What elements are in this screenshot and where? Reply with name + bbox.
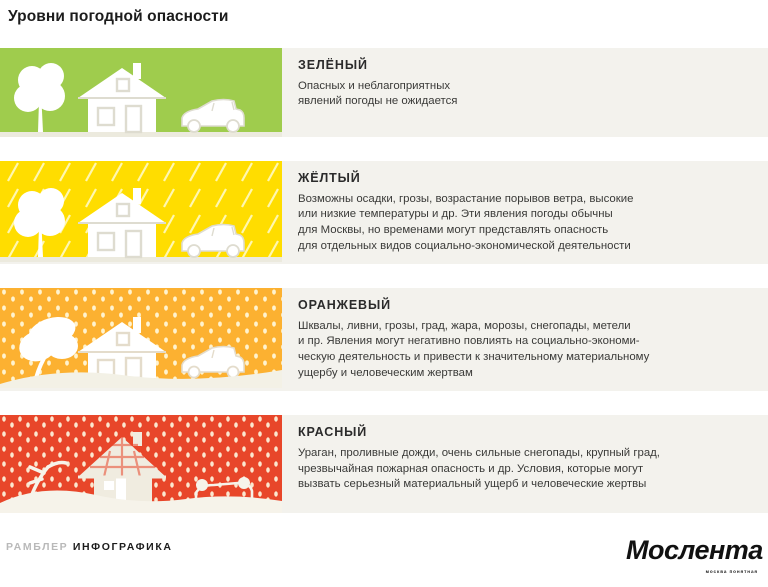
level-desc-line: чрезвычайная пожарная опасность и др. Ус… [298,462,752,478]
level-name-red: КРАСНЫЙ [298,426,752,440]
level-row-red: КРАСНЫЙ Ураган, проливные дожди, очень с… [0,415,768,513]
level-row-orange: ОРАНЖЕВЫЙ Шквалы, ливни, грозы, град, жа… [0,288,768,391]
moslenta-tagline: москва понятная [706,569,758,574]
credit-brand: РАМБЛЕР [6,541,68,553]
level-desc-line: и пр. Явления могут негативно повлиять н… [298,334,752,350]
level-desc-line: Возможны осадки, грозы, возрастание поры… [298,192,752,208]
credit-line: РАМБЛЕР ИНФОГРАФИКА [6,541,173,553]
level-desc-line: ческую деятельность и привести к значите… [298,350,752,366]
danger-levels-list: ЗЕЛЁНЫЙ Опасных и неблагоприятных явлени… [0,48,768,537]
level-text-red: КРАСНЫЙ Ураган, проливные дожди, очень с… [282,415,768,513]
level-text-green: ЗЕЛЁНЫЙ Опасных и неблагоприятных явлени… [282,48,768,137]
illustration-red [0,415,282,513]
illustration-green [0,48,282,137]
level-desc-red: Ураган, проливные дожди, очень сильные с… [298,446,752,493]
level-text-orange: ОРАНЖЕВЫЙ Шквалы, ливни, грозы, град, жа… [282,288,768,391]
level-desc-line: Шквалы, ливни, грозы, град, жара, морозы… [298,319,752,335]
level-name-orange: ОРАНЖЕВЫЙ [298,299,752,313]
level-desc-line: или низкие температуры и др. Эти явления… [298,207,752,223]
svg-text:Мослента: Мослента [626,535,763,565]
level-desc-orange: Шквалы, ливни, грозы, град, жара, морозы… [298,319,752,381]
illustration-orange [0,288,282,388]
credit-section: ИНФОГРАФИКА [73,541,173,553]
page-title: Уровни погодной опасности [8,8,229,26]
level-row-yellow: ЖЁЛТЫЙ Возможны осадки, грозы, возрастан… [0,161,768,264]
level-desc-yellow: Возможны осадки, грозы, возрастание поры… [298,192,752,254]
level-desc-line: Ураган, проливные дожди, очень сильные с… [298,446,752,462]
level-name-yellow: ЖЁЛТЫЙ [298,172,752,186]
level-text-yellow: ЖЁЛТЫЙ Возможны осадки, грозы, возрастан… [282,161,768,264]
level-desc-line: вызвать серьезный материальный ущерб и ч… [298,477,752,493]
moslenta-logo[interactable]: Мослента москва понятная [624,533,764,575]
level-desc-line: для Москвы, но временами могут представл… [298,223,752,239]
level-desc-line: ущербу и человеческим жертвам [298,366,752,382]
level-desc-line: явлений погоды не ожидается [298,94,752,110]
level-desc-green: Опасных и неблагоприятных явлений погоды… [298,79,752,110]
level-row-green: ЗЕЛЁНЫЙ Опасных и неблагоприятных явлени… [0,48,768,137]
level-desc-line: для отдельных видов социально-экономичес… [298,239,752,255]
footer: РАМБЛЕР ИНФОГРАФИКА Мослента москва поня… [0,527,768,587]
level-desc-line: Опасных и неблагоприятных [298,79,752,95]
illustration-yellow [0,161,282,262]
level-name-green: ЗЕЛЁНЫЙ [298,59,752,73]
